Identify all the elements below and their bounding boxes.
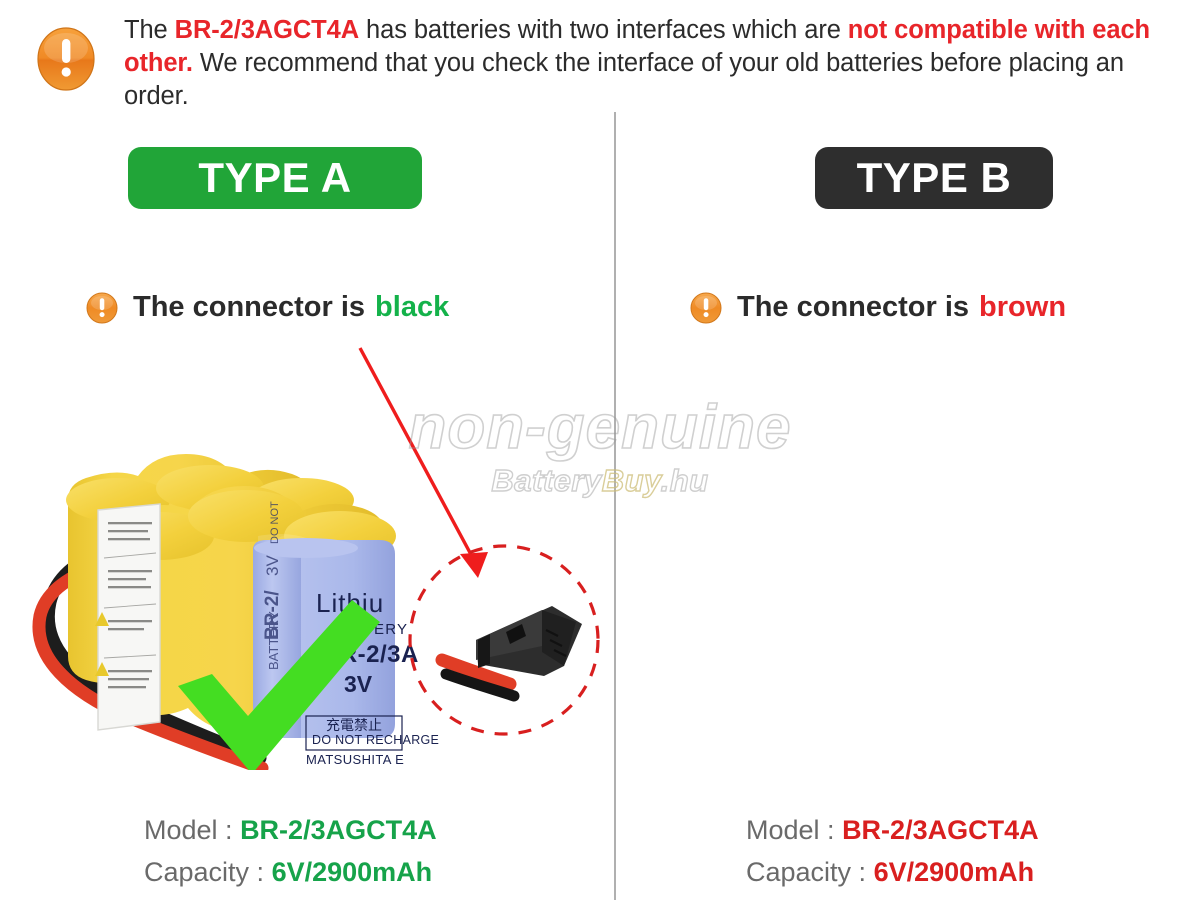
notice-banner: The BR-2/3AGCT4A has batteries with two …: [0, 0, 1200, 125]
type-b-capacity-label: Capacity :: [746, 857, 866, 887]
panel-type-a: TYPE A The connector is: [0, 125, 600, 900]
type-a-badge-label: TYPE A: [198, 154, 351, 202]
black-connector-shape: [442, 606, 582, 696]
svg-text:MATSUSHITA E: MATSUSHITA E: [306, 752, 404, 767]
type-b-specs: Model : BR-2/3AGCT4A Capacity : 6V/2900m…: [746, 809, 1039, 893]
type-a-connector-color-word: black: [375, 291, 449, 324]
comparison-infographic: The BR-2/3AGCT4A has batteries with two …: [0, 0, 1200, 900]
notice-seg-4: We recommend that you check the interfac…: [124, 49, 1124, 110]
panel-type-b: TYPE B The connector is: [600, 125, 1200, 900]
type-b-model-value: BR-2/3AGCT4A: [842, 815, 1039, 845]
type-a-model-value: BR-2/3AGCT4A: [240, 815, 437, 845]
svg-text:充電禁止: 充電禁止: [326, 717, 382, 733]
type-b-connector-prefix: The connector is: [737, 291, 969, 324]
type-a-capacity-label: Capacity :: [144, 857, 264, 887]
type-a-model-label: Model :: [144, 815, 233, 845]
type-a-specs: Model : BR-2/3AGCT4A Capacity : 6V/2900m…: [144, 809, 437, 893]
type-b-badge: TYPE B: [815, 147, 1053, 209]
type-a-connector-statement: The connector is black: [86, 291, 449, 324]
type-a-model-row: Model : BR-2/3AGCT4A: [144, 809, 437, 851]
type-a-battery-image: Lithiu BATTERY BR-2/3A 3V 充電禁止 DO NOT RE…: [10, 340, 600, 770]
type-a-capacity-row: Capacity : 6V/2900mAh: [144, 851, 437, 893]
type-b-badge-label: TYPE B: [857, 154, 1012, 202]
type-b-capacity-row: Capacity : 6V/2900mAh: [746, 851, 1039, 893]
warning-exclamation-icon: [690, 292, 722, 324]
svg-text:3V: 3V: [263, 555, 282, 576]
notice-seg-0: The: [124, 16, 175, 44]
warning-exclamation-icon: [86, 292, 118, 324]
svg-text:DO NOT: DO NOT: [269, 501, 281, 544]
notice-text: The BR-2/3AGCT4A has batteries with two …: [124, 14, 1170, 113]
type-b-connector-color-word: brown: [979, 291, 1066, 324]
warning-exclamation-icon: [36, 26, 96, 92]
type-b-connector-statement: The connector is brown: [690, 291, 1066, 324]
type-b-capacity-value: 6V/2900mAh: [874, 857, 1035, 887]
type-a-connector-prefix: The connector is: [133, 291, 365, 324]
type-b-model-row: Model : BR-2/3AGCT4A: [746, 809, 1039, 851]
svg-text:3V: 3V: [344, 671, 373, 697]
type-a-badge: TYPE A: [128, 147, 422, 209]
notice-seg-2: has batteries with two interfaces which …: [359, 16, 848, 44]
type-a-capacity-value: 6V/2900mAh: [272, 857, 433, 887]
svg-text:BATTERY: BATTERY: [266, 611, 281, 670]
type-b-model-label: Model :: [746, 815, 835, 845]
notice-seg-1: BR-2/3AGCT4A: [175, 16, 359, 44]
svg-text:DO NOT RECHARGE: DO NOT RECHARGE: [312, 733, 439, 747]
